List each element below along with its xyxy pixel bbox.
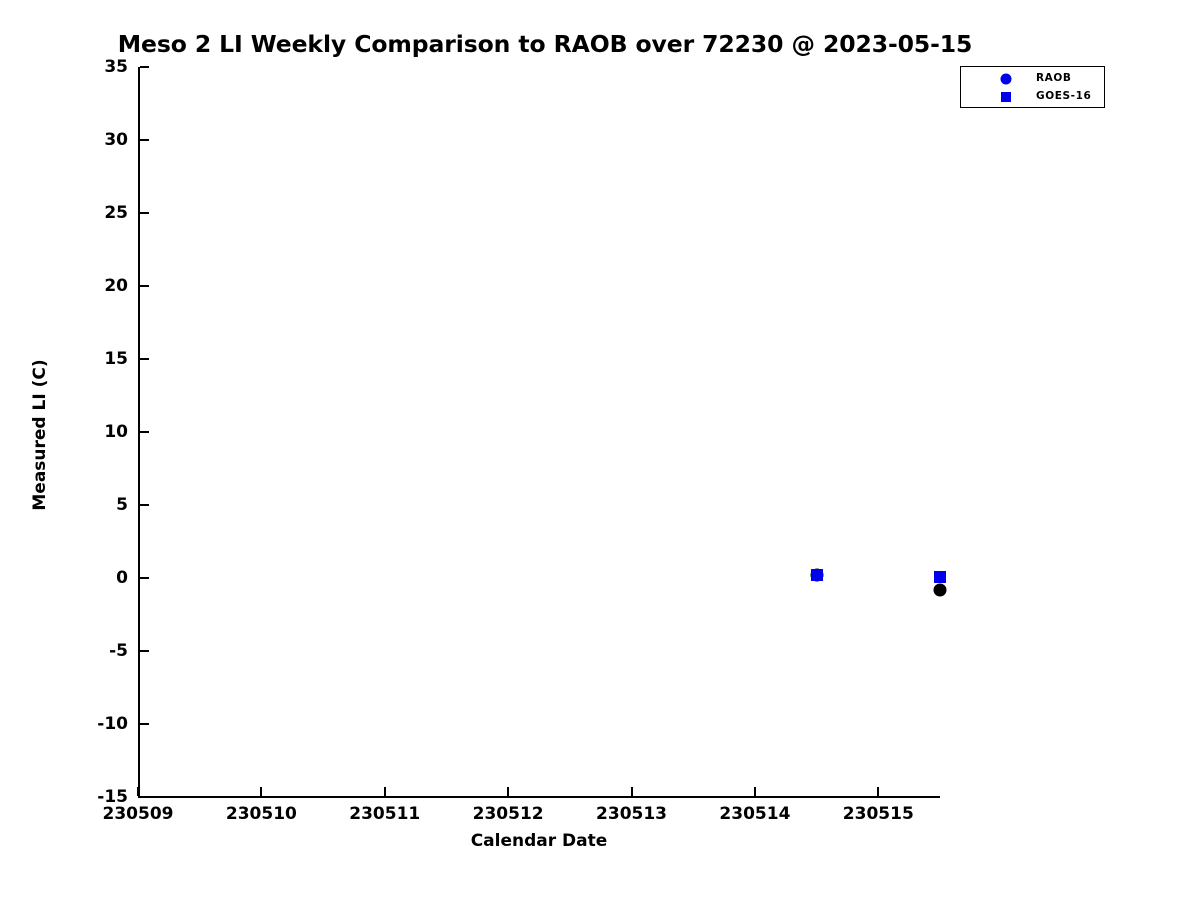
y-tick-mark [140, 431, 149, 433]
x-tick-label: 230515 [818, 806, 938, 823]
y-tick-label: 20 [42, 278, 128, 295]
x-axis-title: Calendar Date [138, 831, 940, 851]
x-axis-line [138, 796, 940, 798]
legend-item-raob[interactable]: RAOB [961, 70, 1104, 87]
plot-area[interactable] [138, 67, 940, 797]
x-tick-label: 230510 [201, 806, 321, 823]
y-tick-mark [140, 723, 149, 725]
y-tick-label: -5 [42, 643, 128, 660]
x-tick-mark [260, 787, 262, 796]
data-point-raob[interactable] [934, 583, 947, 596]
y-tick-label: -10 [42, 716, 128, 733]
y-tick-label: 5 [42, 497, 128, 514]
x-tick-mark [137, 787, 139, 796]
x-tick-mark [507, 787, 509, 796]
x-tick-label: 230514 [695, 806, 815, 823]
data-point-goes-16[interactable] [934, 571, 946, 583]
chart-title: Meso 2 LI Weekly Comparison to RAOB over… [80, 30, 1010, 58]
x-tick-mark [754, 787, 756, 796]
y-axis-title: Measured LI (C) [30, 335, 50, 535]
y-tick-label: 25 [42, 205, 128, 222]
y-tick-mark [140, 358, 149, 360]
x-tick-mark [631, 787, 633, 796]
chart-figure: Meso 2 LI Weekly Comparison to RAOB over… [0, 0, 1200, 900]
y-tick-label: 35 [42, 59, 128, 76]
y-tick-mark [140, 504, 149, 506]
y-tick-mark [140, 285, 149, 287]
y-tick-label: 10 [42, 424, 128, 441]
x-tick-mark [384, 787, 386, 796]
y-tick-mark [140, 650, 149, 652]
y-tick-mark [140, 796, 149, 798]
x-tick-label: 230509 [78, 806, 198, 823]
data-point-goes-16[interactable] [811, 569, 823, 581]
y-tick-label: 0 [42, 570, 128, 587]
x-tick-mark [877, 787, 879, 796]
legend-label: GOES-16 [1036, 90, 1091, 102]
legend-item-goes-16[interactable]: GOES-16 [961, 88, 1104, 105]
y-tick-mark [140, 139, 149, 141]
x-tick-label: 230512 [448, 806, 568, 823]
x-tick-label: 230513 [572, 806, 692, 823]
y-tick-mark [140, 212, 149, 214]
y-tick-label: 30 [42, 132, 128, 149]
x-tick-label: 230511 [325, 806, 445, 823]
legend-circle-icon [997, 70, 1015, 87]
y-tick-mark [140, 66, 149, 68]
legend-square-icon [997, 88, 1015, 105]
y-tick-label: 15 [42, 351, 128, 368]
y-tick-mark [140, 577, 149, 579]
chart-legend: RAOBGOES-16 [960, 66, 1105, 108]
legend-label: RAOB [1036, 72, 1072, 84]
